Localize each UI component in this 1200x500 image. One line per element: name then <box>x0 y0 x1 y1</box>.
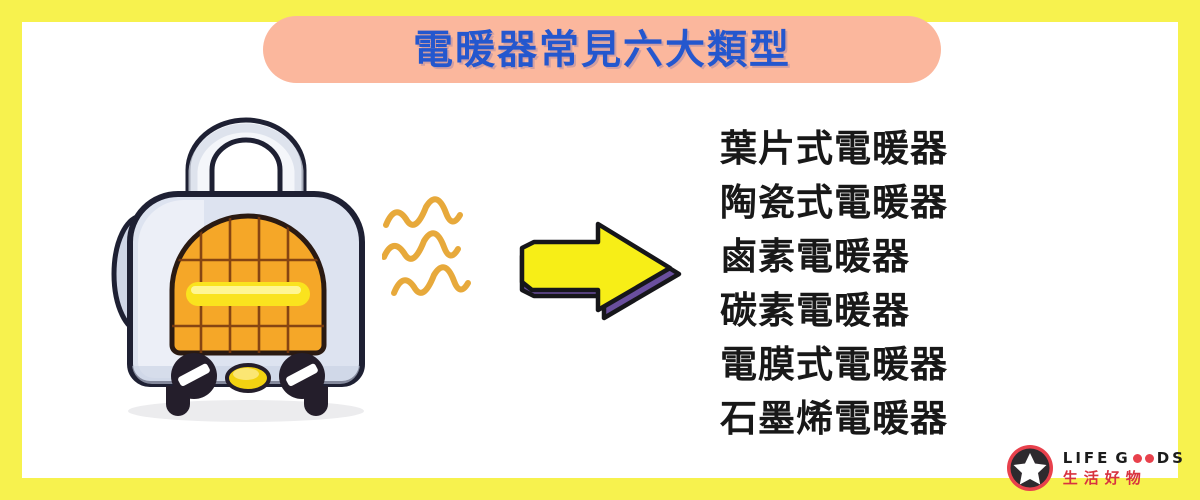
heat-wave-svg <box>382 195 492 315</box>
list-item: 陶瓷式電暖器 <box>720 176 1140 230</box>
list-item: 電膜式電暖器 <box>720 338 1140 392</box>
brand-en-part1: LIFE <box>1063 449 1111 468</box>
right-arrow-svg <box>518 218 683 323</box>
list-item: 鹵素電暖器 <box>720 230 1140 284</box>
heat-wave-icon <box>382 195 492 315</box>
heater-indicator-glow <box>233 368 259 380</box>
brand-name-zh: 生活好物 <box>1063 468 1186 488</box>
brand-dot-icon-1 <box>1133 454 1142 463</box>
brand-dot-icon-2 <box>1145 454 1154 463</box>
heater-type-list: 葉片式電暖器 陶瓷式電暖器 鹵素電暖器 碳素電暖器 電膜式電暖器 石墨烯電暖器 <box>720 122 1140 446</box>
heat-wave-line-1 <box>386 199 460 225</box>
brand-en-double-o <box>1132 454 1156 463</box>
list-item: 石墨烯電暖器 <box>720 392 1140 446</box>
poster-root: 電暖器常見六大類型 <box>0 0 1200 500</box>
star-badge-icon <box>1006 444 1054 492</box>
heater-shadow <box>128 400 364 422</box>
page-title: 電暖器常見六大類型 <box>263 16 941 83</box>
brand-logo[interactable]: LIFE G DS 生活好物 <box>1006 444 1186 492</box>
title-banner: 電暖器常見六大類型 <box>263 16 941 83</box>
brand-en-g: G <box>1115 449 1130 468</box>
list-item: 葉片式電暖器 <box>720 122 1140 176</box>
brand-text: LIFE G DS 生活好物 <box>1063 449 1186 488</box>
heating-element-glow <box>191 286 301 294</box>
space-heater-svg <box>96 108 396 428</box>
right-arrow-icon <box>518 218 683 323</box>
list-item: 碳素電暖器 <box>720 284 1140 338</box>
heater-foot-right <box>304 386 328 416</box>
space-heater-illustration <box>96 108 396 428</box>
heat-wave-line-2 <box>384 233 458 259</box>
heater-foot-left <box>166 386 190 416</box>
brand-en-ds: DS <box>1157 449 1186 468</box>
heat-wave-line-3 <box>394 267 468 293</box>
brand-name-en: LIFE G DS <box>1063 449 1186 468</box>
star-badge-svg <box>1006 444 1054 492</box>
